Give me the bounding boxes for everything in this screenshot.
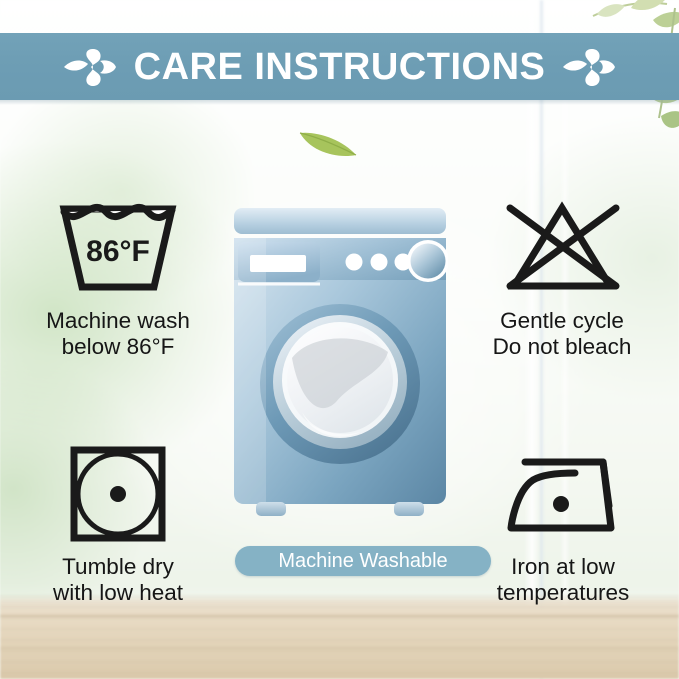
wood-edge-line — [0, 615, 679, 617]
machine-washable-badge: Machine Washable — [235, 546, 491, 576]
care-symbol-label: Gentle cycle Do not bleach — [493, 308, 632, 360]
wood-edge-line — [0, 647, 679, 649]
care-symbol-no-bleach: Gentle cycle Do not bleach — [452, 196, 672, 360]
page-title: CARE INSTRUCTIONS — [134, 48, 546, 86]
badge-label: Machine Washable — [278, 551, 447, 571]
care-symbol-tumble-dry: Tumble dry with low heat — [12, 442, 224, 606]
control-button[interactable] — [346, 254, 363, 271]
tumble-dry-square-icon — [67, 443, 169, 545]
tumble-dry-square-icon-wrap — [67, 442, 169, 546]
banner-shadow — [0, 100, 679, 105]
header-banner: CARE INSTRUCTIONS — [0, 33, 679, 100]
care-symbol-label: Machine wash below 86°F — [46, 308, 190, 360]
iron-icon-wrap — [499, 442, 627, 546]
wash-temperature-value: 86°F — [86, 235, 150, 268]
machine-foot — [256, 502, 286, 516]
care-symbol-label: Tumble dry with low heat — [53, 554, 183, 606]
washing-machine-illustration — [232, 206, 448, 528]
wash-basin-icon: 86°F — [54, 199, 182, 297]
fleur-de-lis-ornament-icon — [62, 46, 118, 88]
machine-top-lid — [234, 208, 446, 234]
triangle-crossed-out-icon-wrap — [496, 196, 628, 300]
wash-basin-icon-wrap: 86°F — [54, 196, 182, 300]
care-symbol-iron: Iron at low temperatures — [452, 442, 674, 606]
control-dial[interactable] — [411, 244, 446, 279]
machine-foot — [394, 502, 424, 516]
body-highlight — [234, 238, 266, 504]
control-button[interactable] — [371, 254, 388, 271]
care-symbol-machine-wash: 86°F Machine wash below 86°F — [10, 196, 226, 360]
wood-grain — [0, 595, 679, 679]
floating-leaf-icon — [296, 121, 362, 161]
iron-icon — [499, 448, 627, 540]
fleur-de-lis-ornament-icon — [561, 46, 617, 88]
triangle-crossed-out-icon — [496, 198, 628, 298]
care-symbol-label: Iron at low temperatures — [497, 554, 630, 606]
care-instructions-infographic: CARE INSTRUCTIONS 86°F Machine wash belo… — [0, 0, 679, 679]
